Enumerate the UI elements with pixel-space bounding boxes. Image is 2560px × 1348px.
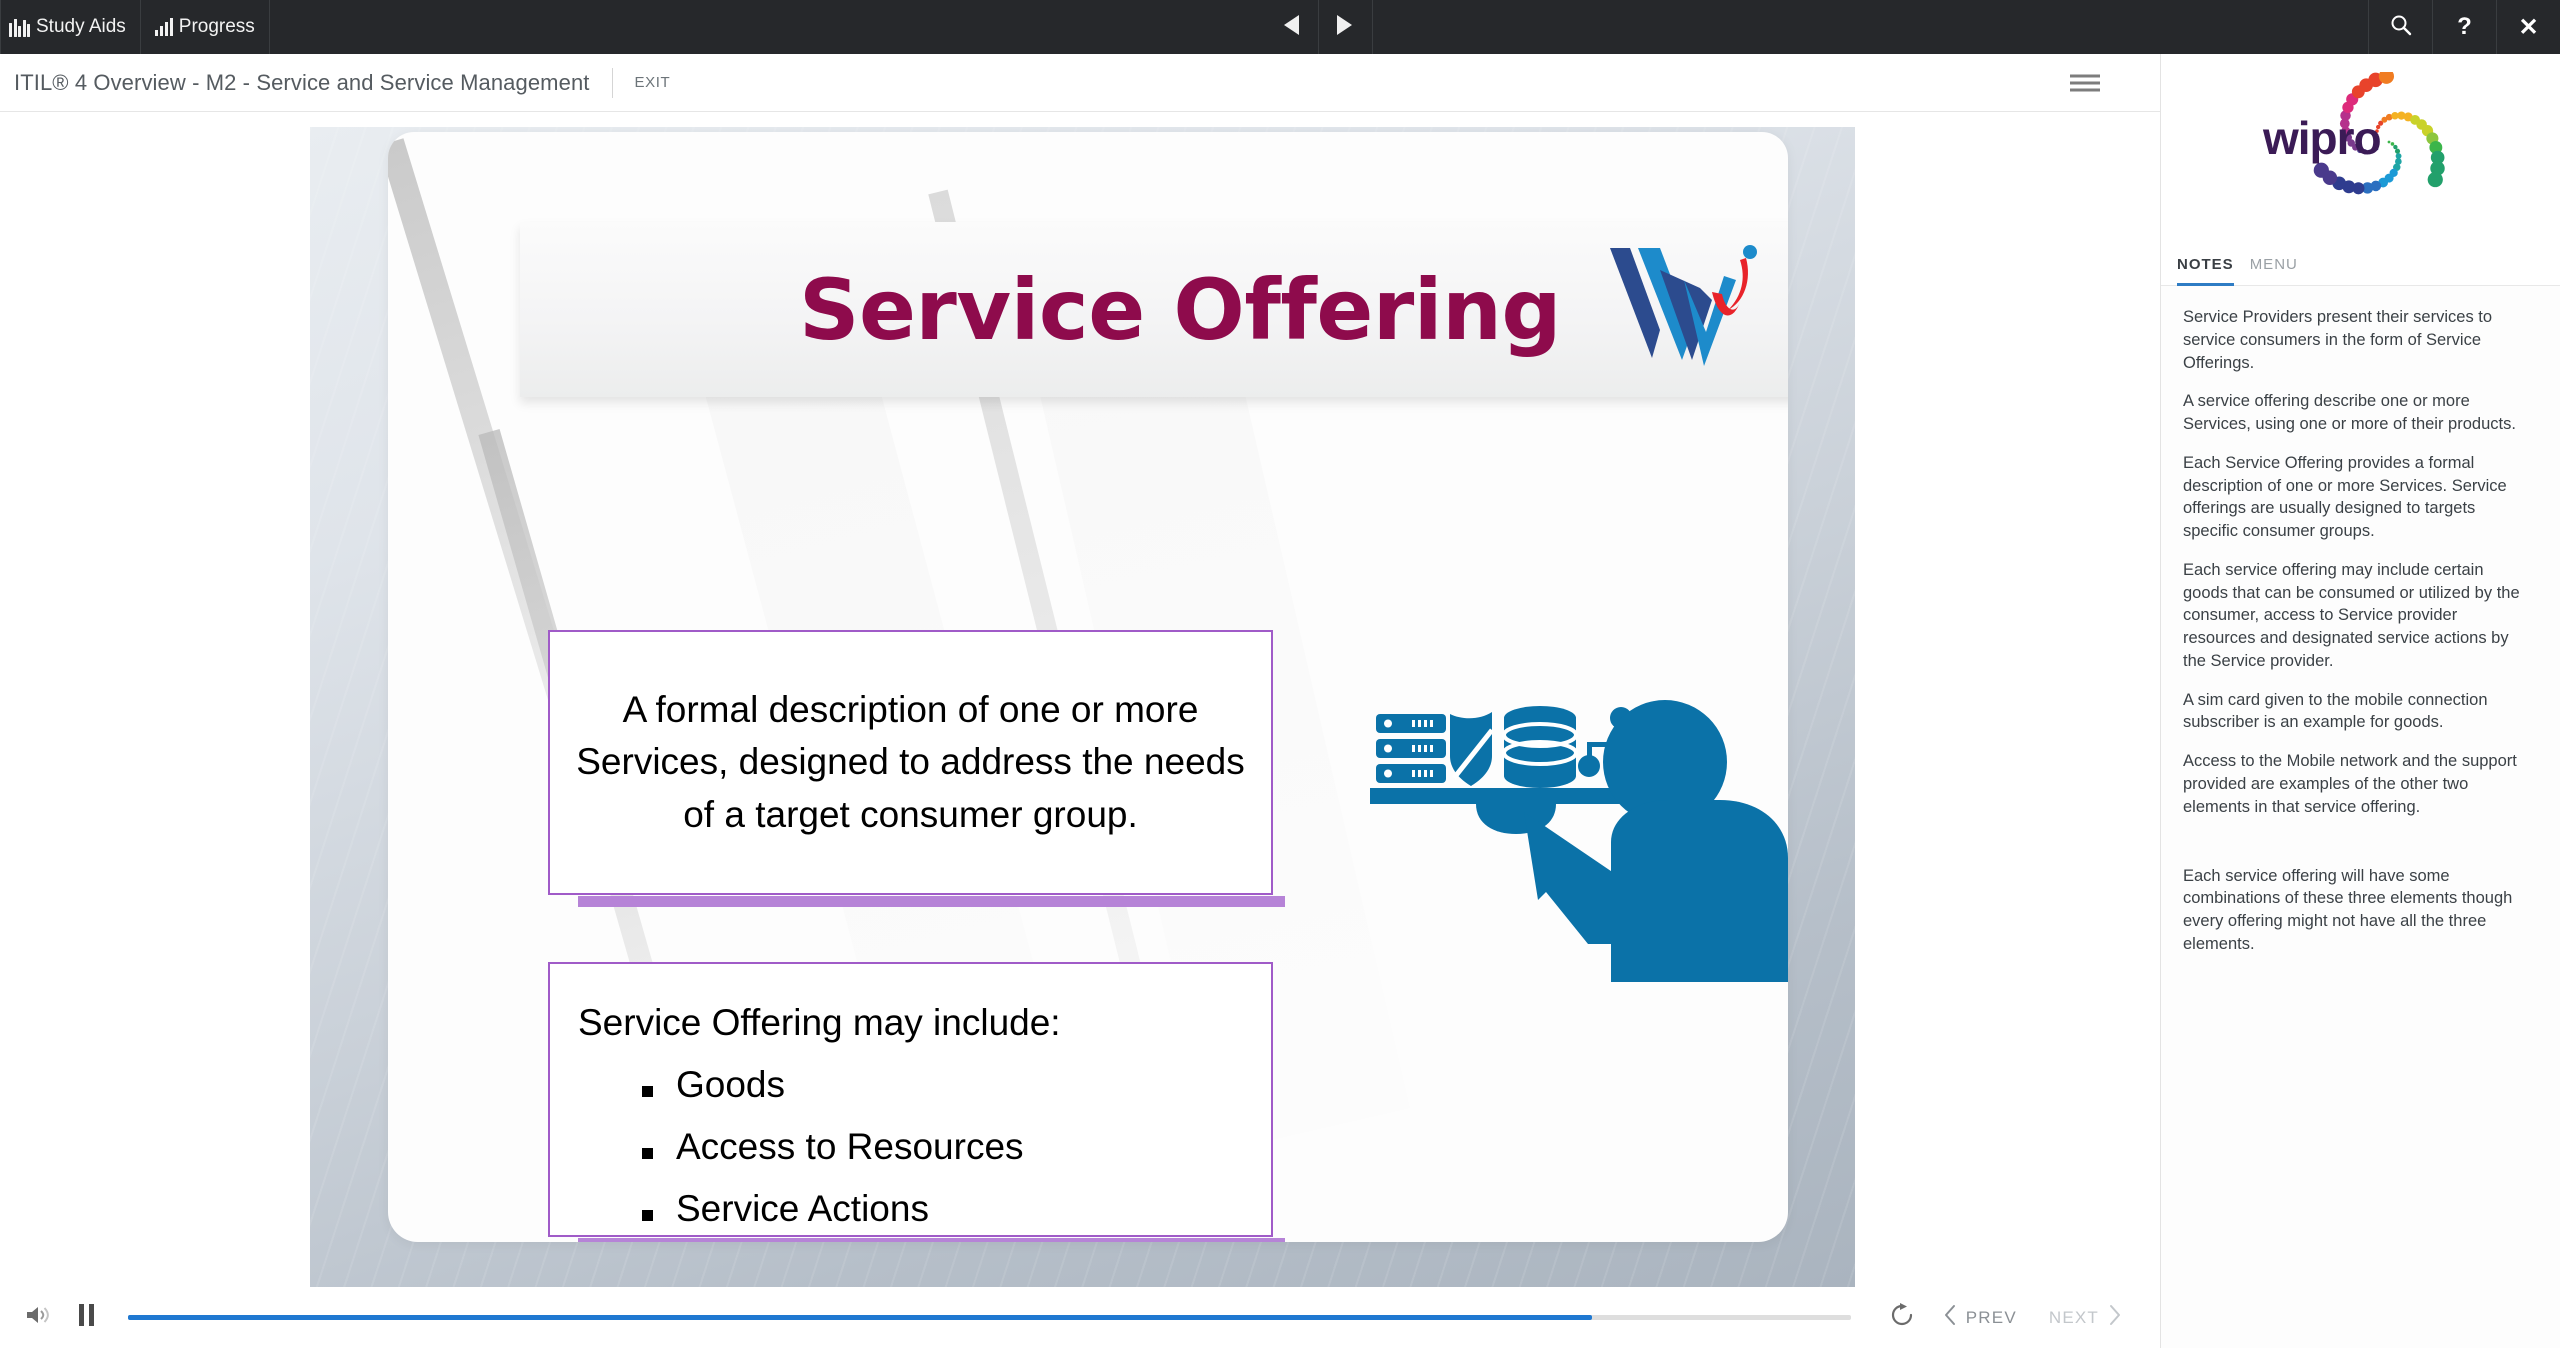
- slide-stage: Service Offering A formal description of…: [0, 112, 2160, 1287]
- replay-icon: [1889, 1302, 1915, 1333]
- previous-slide-button[interactable]: [1265, 0, 1319, 54]
- progress-fill: [128, 1315, 1592, 1320]
- includes-box: Service Offering may include: Goods Acce…: [548, 962, 1273, 1237]
- slide-title: Service Offering: [799, 261, 1561, 359]
- note-paragraph: A service offering describe one or more …: [2183, 390, 2530, 436]
- svg-text:wipro: wipro: [2262, 112, 2381, 164]
- definition-box: A formal description of one or more Serv…: [548, 630, 1273, 895]
- note-paragraph: Service Providers present their services…: [2183, 306, 2530, 374]
- help-icon: ?: [2457, 13, 2472, 41]
- note-paragraph: Each service offering will have some com…: [2183, 865, 2530, 956]
- search-icon: [2390, 14, 2412, 41]
- bar-chart-icon: [155, 18, 173, 36]
- help-button[interactable]: ?: [2432, 0, 2496, 54]
- tab-menu[interactable]: MENU: [2250, 256, 2298, 285]
- search-button[interactable]: [2368, 0, 2432, 54]
- notes-panel: Service Providers present their services…: [2161, 286, 2560, 1348]
- slide-white-card: Service Offering A formal description of…: [388, 132, 1788, 1242]
- header-divider: [612, 68, 613, 98]
- exit-button[interactable]: EXIT: [635, 74, 671, 91]
- volume-button[interactable]: [14, 1304, 62, 1331]
- volume-icon: [25, 1304, 51, 1331]
- page-title: ITIL® 4 Overview - M2 - Service and Serv…: [14, 70, 590, 96]
- pause-icon: [76, 1304, 96, 1331]
- prev-button[interactable]: PREV: [1927, 1304, 2033, 1331]
- toolbar-spacer-left: [270, 0, 1265, 54]
- triangle-right-icon: [1336, 14, 1354, 41]
- chevron-right-icon: [2108, 1304, 2122, 1331]
- close-button[interactable]: ✕: [2496, 0, 2560, 54]
- progress-button[interactable]: Progress: [141, 0, 270, 54]
- tab-notes[interactable]: NOTES: [2177, 256, 2234, 285]
- includes-list: Goods Access to Resources Service Action…: [564, 1064, 1271, 1230]
- service-provider-tray-illustration: [1368, 652, 1788, 1012]
- replay-button[interactable]: [1877, 1302, 1927, 1333]
- note-paragraph: A sim card given to the mobile connectio…: [2183, 689, 2530, 735]
- books-icon: [9, 17, 30, 37]
- list-item: Access to Resources: [564, 1126, 1271, 1168]
- note-paragraph: Each Service Offering provides a formal …: [2183, 452, 2530, 543]
- course-header: ITIL® 4 Overview - M2 - Service and Serv…: [0, 54, 2160, 112]
- wipro-logo: wipro: [2161, 54, 2560, 230]
- study-aids-label: Study Aids: [36, 16, 126, 38]
- note-paragraph: Access to the Mobile network and the sup…: [2183, 750, 2530, 818]
- slide-title-band: Service Offering: [520, 222, 1788, 397]
- right-sidebar: wipro NOTES MENU Service Providers prese…: [2160, 54, 2560, 1348]
- progress-label: Progress: [179, 16, 255, 38]
- definition-text: A formal description of one or more Serv…: [550, 684, 1271, 842]
- note-paragraph: Each service offering may include certai…: [2183, 559, 2530, 673]
- progress-scrubber[interactable]: [128, 1315, 1851, 1320]
- study-aids-button[interactable]: Study Aids: [0, 0, 141, 54]
- next-slide-button[interactable]: [1319, 0, 1373, 54]
- wipro-w-logo: [1600, 240, 1780, 380]
- list-item: Service Actions: [564, 1188, 1271, 1230]
- hamburger-menu-icon[interactable]: [2070, 70, 2100, 95]
- toolbar-spacer-right: [1373, 0, 2368, 54]
- includes-lead: Service Offering may include:: [564, 1002, 1271, 1044]
- triangle-left-icon: [1282, 14, 1300, 41]
- sidebar-tabs: NOTES MENU: [2161, 230, 2560, 286]
- list-item: Goods: [564, 1064, 1271, 1106]
- slide-canvas: Service Offering A formal description of…: [310, 127, 1855, 1287]
- chevron-left-icon: [1943, 1304, 1957, 1331]
- next-label: NEXT: [2049, 1308, 2099, 1328]
- next-button[interactable]: NEXT: [2033, 1304, 2138, 1331]
- top-toolbar: Study Aids Progress ? ✕: [0, 0, 2560, 54]
- prev-label: PREV: [1966, 1308, 2017, 1328]
- close-icon: ✕: [2518, 13, 2538, 42]
- pause-button[interactable]: [62, 1304, 110, 1331]
- playback-bar: PREV NEXT: [0, 1287, 2160, 1348]
